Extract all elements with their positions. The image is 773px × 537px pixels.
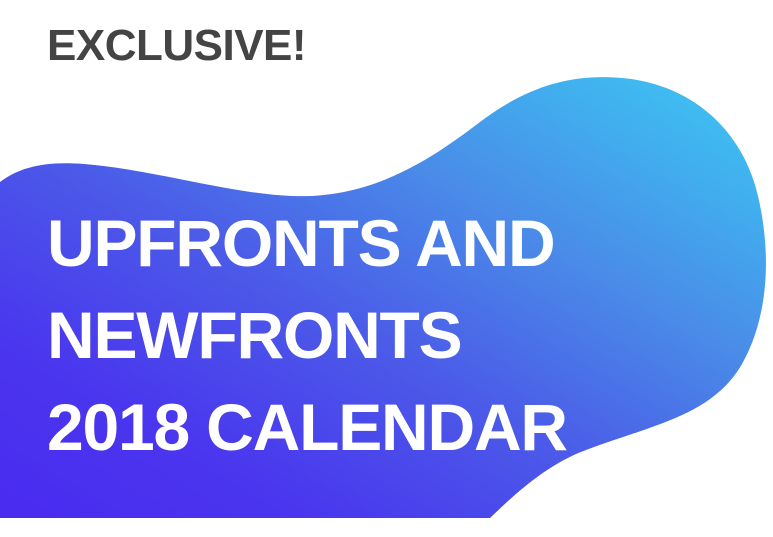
banner-canvas: EXCLUSIVE! UPFRONTS AND NEWFRONTS 2018 C… xyxy=(0,0,773,537)
headline-line-2: NEWFRONTS xyxy=(47,289,567,381)
headline-line-3: 2018 CALENDAR xyxy=(47,381,567,473)
eyebrow-label: EXCLUSIVE! xyxy=(47,21,306,71)
headline-block: UPFRONTS AND NEWFRONTS 2018 CALENDAR xyxy=(47,197,567,473)
headline-line-1: UPFRONTS AND xyxy=(47,197,567,289)
